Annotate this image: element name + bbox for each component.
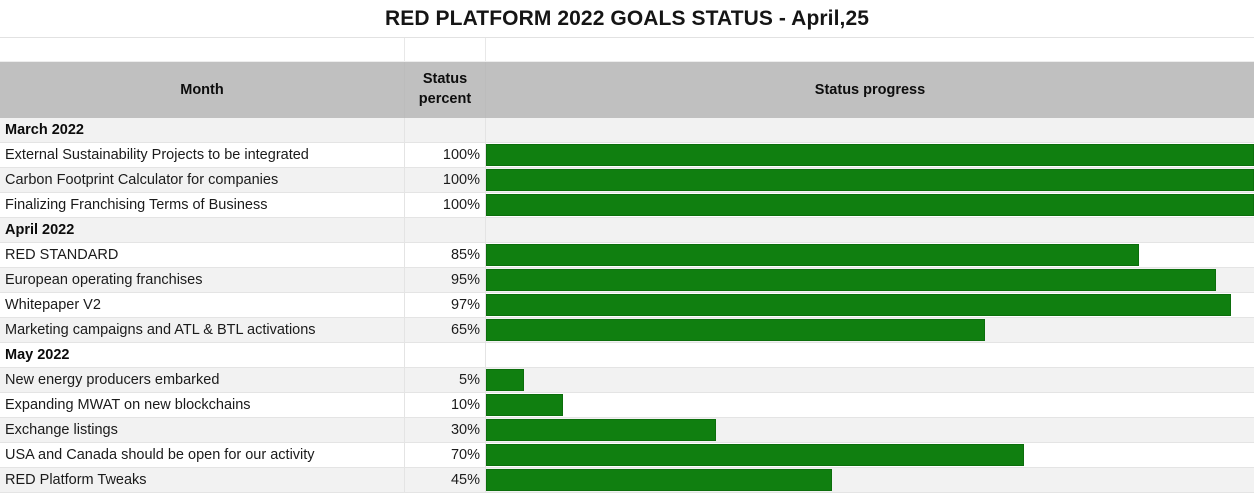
progress-bar [486, 194, 1254, 216]
status-percent-value: 100% [405, 143, 486, 167]
title-row: RED PLATFORM 2022 GOALS STATUS - April,2… [0, 0, 1254, 38]
status-percent-value: 30% [405, 418, 486, 442]
progress-bar [486, 444, 1024, 466]
table-row[interactable]: Marketing campaigns and ATL & BTL activa… [0, 318, 1254, 343]
status-progress-cell [486, 118, 1254, 142]
column-header-status-percent[interactable]: Statuspercent [405, 62, 486, 118]
goal-label: Exchange listings [0, 418, 405, 442]
status-percent-value: 100% [405, 168, 486, 192]
month-group-row[interactable]: May 2022 [0, 343, 1254, 368]
status-percent-value: 5% [405, 368, 486, 392]
status-percent-value: 97% [405, 293, 486, 317]
column-header-status-progress[interactable]: Status progress [486, 62, 1254, 118]
table-row[interactable]: Finalizing Franchising Terms of Business… [0, 193, 1254, 218]
status-percent-line2: percent [419, 91, 471, 107]
progress-bar [486, 469, 832, 491]
status-percent-value [405, 118, 486, 142]
status-progress-cell [486, 443, 1254, 467]
status-progress-cell [486, 418, 1254, 442]
status-percent-value: 100% [405, 193, 486, 217]
progress-bar [486, 144, 1254, 166]
status-progress-cell [486, 468, 1254, 492]
progress-bar [486, 169, 1254, 191]
goal-label: Marketing campaigns and ATL & BTL activa… [0, 318, 405, 342]
status-progress-cell [486, 243, 1254, 267]
table-row[interactable]: Expanding MWAT on new blockchains10% [0, 393, 1254, 418]
column-header-status-progress-label: Status progress [815, 82, 925, 98]
spacer-cell-month [0, 38, 405, 61]
status-progress-cell [486, 193, 1254, 217]
blank-spacer-row [0, 38, 1254, 62]
table-row[interactable]: New energy producers embarked5% [0, 368, 1254, 393]
status-progress-cell [486, 343, 1254, 367]
column-header-status-percent-label: Statuspercent [419, 70, 471, 109]
status-percent-value [405, 218, 486, 242]
month-group-label: May 2022 [0, 343, 405, 367]
goal-label: Carbon Footprint Calculator for companie… [0, 168, 405, 192]
table-row[interactable]: External Sustainability Projects to be i… [0, 143, 1254, 168]
column-header-month[interactable]: Month [0, 62, 405, 118]
table-row[interactable]: Carbon Footprint Calculator for companie… [0, 168, 1254, 193]
status-percent-value: 85% [405, 243, 486, 267]
status-progress-cell [486, 293, 1254, 317]
progress-bar [486, 369, 524, 391]
table-row[interactable]: Whitepaper V297% [0, 293, 1254, 318]
status-progress-cell [486, 168, 1254, 192]
status-progress-cell [486, 318, 1254, 342]
status-percent-value: 10% [405, 393, 486, 417]
progress-bar [486, 294, 1231, 316]
table-row[interactable]: RED Platform Tweaks45% [0, 468, 1254, 493]
page-title: RED PLATFORM 2022 GOALS STATUS - April,2… [385, 7, 869, 31]
table-body: March 2022External Sustainability Projec… [0, 118, 1254, 493]
status-progress-cell [486, 393, 1254, 417]
progress-bar [486, 244, 1139, 266]
goal-label: Expanding MWAT on new blockchains [0, 393, 405, 417]
status-percent-value: 70% [405, 443, 486, 467]
status-percent-value: 65% [405, 318, 486, 342]
status-progress-cell [486, 268, 1254, 292]
status-percent-line1: Status [423, 71, 467, 87]
status-percent-value: 95% [405, 268, 486, 292]
month-group-row[interactable]: April 2022 [0, 218, 1254, 243]
table-row[interactable]: RED STANDARD85% [0, 243, 1254, 268]
status-percent-value: 45% [405, 468, 486, 492]
goal-label: RED Platform Tweaks [0, 468, 405, 492]
table-row[interactable]: Exchange listings30% [0, 418, 1254, 443]
column-header-month-label: Month [180, 82, 223, 98]
goal-label: Finalizing Franchising Terms of Business [0, 193, 405, 217]
status-progress-cell [486, 143, 1254, 167]
progress-bar [486, 419, 716, 441]
progress-bar [486, 394, 563, 416]
spreadsheet-goals-status: RED PLATFORM 2022 GOALS STATUS - April,2… [0, 0, 1254, 494]
table-row[interactable]: USA and Canada should be open for our ac… [0, 443, 1254, 468]
goal-label: Whitepaper V2 [0, 293, 405, 317]
goal-label: External Sustainability Projects to be i… [0, 143, 405, 167]
spacer-cell-progress [486, 38, 1254, 61]
goal-label: European operating franchises [0, 268, 405, 292]
goal-label: RED STANDARD [0, 243, 405, 267]
status-percent-value [405, 343, 486, 367]
progress-bar [486, 269, 1216, 291]
month-group-label: March 2022 [0, 118, 405, 142]
spacer-cell-percent [405, 38, 486, 61]
status-progress-cell [486, 368, 1254, 392]
month-group-row[interactable]: March 2022 [0, 118, 1254, 143]
table-header-row: Month Statuspercent Status progress [0, 62, 1254, 118]
table-row[interactable]: European operating franchises95% [0, 268, 1254, 293]
month-group-label: April 2022 [0, 218, 405, 242]
progress-bar [486, 319, 985, 341]
goal-label: USA and Canada should be open for our ac… [0, 443, 405, 467]
status-progress-cell [486, 218, 1254, 242]
goal-label: New energy producers embarked [0, 368, 405, 392]
